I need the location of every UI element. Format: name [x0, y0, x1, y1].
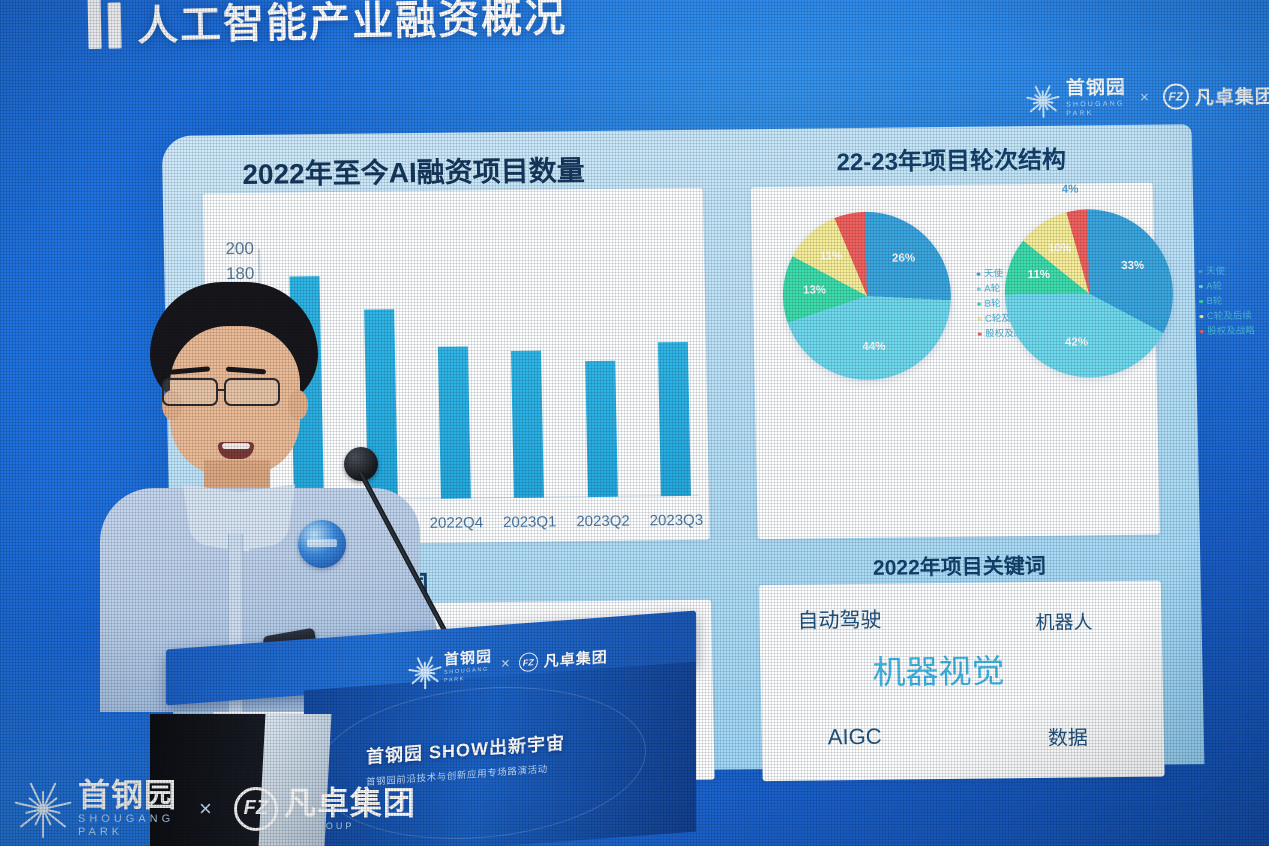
brand-lockup-top-right: 首钢园 SHOUGANG PARK × FZ 凡卓集团 [1026, 76, 1269, 118]
stage-brand-separator-x: × [199, 796, 212, 822]
podium-fz-logo: FZ 凡卓集团 [519, 646, 608, 674]
brand-lockup-bottom-left: 首钢园 SHOUGANG PARK × FZ 凡卓集团 FZ GROUP [14, 779, 416, 838]
pie-slice-label: 13% [803, 284, 826, 296]
stage-fz-name-cn: 凡卓集团 [284, 787, 416, 819]
pie-slice-label: 42% [1065, 337, 1088, 349]
legend-swatch-icon [977, 287, 981, 291]
keyword-item: 数据 [1048, 721, 1089, 750]
shougang-name-en-2: PARK [1066, 109, 1126, 117]
bar-series [258, 244, 694, 249]
pie-legend-item: 天使 [1198, 264, 1253, 280]
presentation-stage-photo: 2022年至今AI融资项目数量 200180160140120 2022Q220… [0, 0, 1269, 846]
legend-swatch-icon [977, 317, 981, 321]
legend-swatch-icon [1199, 315, 1203, 319]
shougang-logo: 首钢园 SHOUGANG PARK [1026, 78, 1127, 118]
pie-slice-label: 33% [1121, 259, 1144, 271]
brand-separator-x: × [1140, 89, 1149, 106]
slide-title-text: 人工智能产业融资概况 [136, 0, 567, 52]
speaker-mouth [218, 442, 254, 459]
pie-slice-label: 4% [1062, 183, 1079, 195]
stage-fz-name-en: FZ GROUP [284, 822, 416, 831]
legend-swatch-icon [978, 332, 982, 336]
stage-shougang-name-cn: 首钢园 [78, 779, 177, 811]
pie-chart-title: 22-23年项目轮次结构 [750, 139, 1153, 179]
pie-slice-label: 11% [1028, 269, 1051, 281]
legend-label: A轮 [984, 281, 1000, 296]
pie-chart-2023: 33%42%11%10%4% [1003, 208, 1174, 378]
podium-shougang-logo: 首钢园 SHOUGANG PARK [412, 649, 492, 686]
x-tick-label: 2023Q3 [633, 512, 719, 530]
podium-shougang-wordmark: 首钢园 SHOUGANG PARK [444, 649, 492, 684]
title-accent-bars-icon [88, 0, 122, 49]
keyword-item: 机器视觉 [872, 644, 1005, 693]
pie-slice-label: 10% [1048, 243, 1071, 255]
pie-legend-2023: 天使A轮B轮C轮及后续股权及战略 [1198, 264, 1255, 340]
legend-label: 天使 [1206, 264, 1225, 279]
pie-legend-item: A轮 [1199, 279, 1254, 295]
pie-legend-item: 股权及战略 [1200, 324, 1255, 340]
slide-title: 人工智能产业融资概况 [87, 0, 567, 53]
stage-shougang-en-2: PARK [78, 827, 177, 838]
podium-shougang-name-cn: 首钢园 [444, 649, 492, 668]
legend-label: B轮 [1206, 294, 1222, 309]
glasses-lens-right [224, 378, 280, 406]
legend-swatch-icon [976, 272, 980, 276]
keyword-item: AIGC [828, 724, 882, 751]
fz-circle-icon: FZ [519, 652, 538, 672]
legend-label: C轮及后续 [1207, 309, 1252, 325]
keywords-2022-list: 自动驾驶机器人机器视觉AIGC数据 [759, 581, 1165, 782]
shougang-name-en-1: SHOUGANG [1066, 100, 1126, 108]
starburst-icon [412, 658, 438, 686]
y-tick-label: 200 [208, 239, 254, 260]
podium-fz-name-cn: 凡卓集团 [544, 646, 608, 672]
keyword-item: 机器人 [1035, 607, 1093, 635]
starburst-icon [14, 780, 72, 838]
podium-brand-separator-x: × [501, 655, 510, 673]
legend-swatch-icon [1199, 285, 1203, 289]
pie-slices-2023 [1003, 208, 1174, 378]
fz-circle-icon: FZ [1163, 83, 1189, 109]
legend-label: 天使 [984, 266, 1003, 281]
legend-swatch-icon [1200, 330, 1204, 334]
y-axis-ticks: 200180160140120 [258, 244, 694, 249]
fz-logo: FZ 凡卓集团 [1163, 81, 1269, 110]
stage-shougang-en-1: SHOUGANG [78, 814, 177, 825]
legend-label: 股权及战略 [1207, 324, 1255, 340]
stage-shougang-wordmark: 首钢园 SHOUGANG PARK [78, 779, 177, 838]
fz-name-cn: 凡卓集团 [1195, 81, 1269, 109]
x-axis-ticks: 2022Q22022Q32022Q42023Q12023Q22023Q3 [258, 244, 694, 249]
pie-legend-item: C轮及后续 [1199, 309, 1254, 325]
microphone-boom-arm [358, 471, 452, 641]
shougang-name-cn: 首钢园 [1066, 78, 1126, 98]
keyword-item: 自动驾驶 [797, 604, 882, 635]
bar-chart-title: 2022年至今AI融资项目数量 [242, 149, 585, 193]
pie-slice-label: 11% [820, 250, 843, 262]
fz-circle-icon: FZ [234, 787, 278, 831]
keywords-2022-card: 自动驾驶机器人机器视觉AIGC数据 [759, 581, 1165, 782]
stage-fz-wordmark: 凡卓集团 FZ GROUP [284, 787, 416, 831]
pie-chart-2022: 26%44%13%11% [781, 211, 952, 381]
stage-shougang-logo: 首钢园 SHOUGANG PARK [14, 779, 177, 838]
speaker-glasses [162, 378, 308, 408]
pie-slice-label: 44% [862, 340, 885, 352]
keywords-2022-title: 2022年项目关键词 [758, 549, 1161, 584]
glasses-lens-left [162, 378, 218, 406]
legend-swatch-icon [1199, 300, 1203, 304]
legend-label: A轮 [1206, 279, 1222, 294]
starburst-icon [1026, 84, 1061, 119]
stage-fz-logo: FZ 凡卓集团 FZ GROUP [234, 787, 416, 831]
pie-legend-item: B轮 [1199, 294, 1254, 310]
legend-label: B轮 [984, 296, 1000, 311]
pie-slice-label: 26% [892, 253, 915, 265]
shougang-wordmark: 首钢园 SHOUGANG PARK [1066, 78, 1127, 117]
bar [585, 361, 618, 497]
bar [658, 342, 691, 496]
legend-swatch-icon [977, 302, 981, 306]
legend-swatch-icon [1198, 270, 1202, 274]
